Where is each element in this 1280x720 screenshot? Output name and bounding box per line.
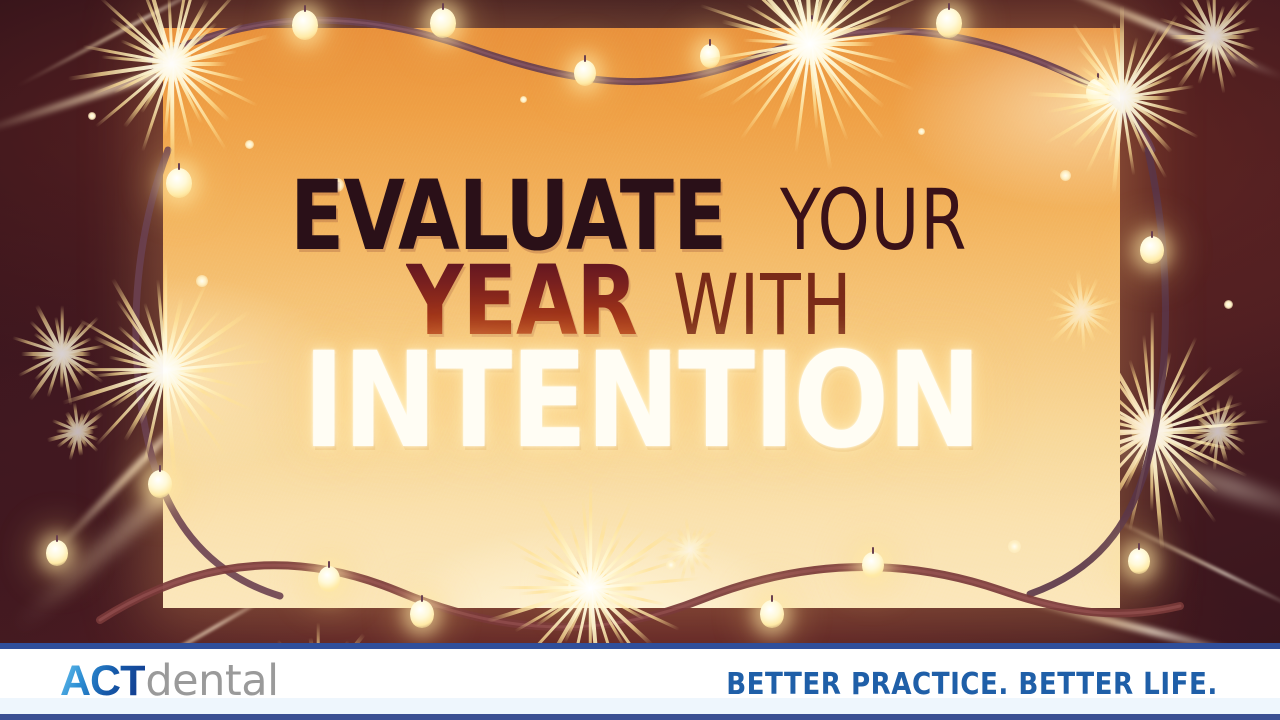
logo-mark-act: ACT — [60, 660, 145, 703]
bulb-top-1 — [292, 10, 318, 40]
content-panel — [163, 28, 1120, 608]
bulb-top-7 — [1086, 78, 1110, 106]
panel-glow-overlay — [163, 28, 1120, 608]
bulb-top-5 — [800, 20, 824, 48]
bulb-bottom-5 — [862, 552, 884, 578]
footer-bottom-rule — [0, 714, 1280, 720]
panel-grain-texture — [163, 28, 1120, 608]
footer-top-rule — [0, 643, 1280, 649]
bulb-left-1 — [166, 168, 192, 198]
footer-bar: ACT dental BETTER PRACTICE. BETTER LIFE. — [0, 643, 1280, 720]
bulb-bottom-3 — [568, 576, 588, 600]
bulb-right-1 — [1140, 236, 1164, 264]
bulb-left-3 — [46, 540, 68, 566]
bulb-top-2 — [430, 8, 456, 38]
bulb-top-3 — [574, 60, 596, 86]
logo-word-dental: dental — [145, 660, 278, 703]
bulb-bottom-1 — [318, 566, 340, 592]
bulb-left-2 — [148, 470, 172, 498]
bulb-bottom-2 — [410, 600, 434, 628]
bulb-right-2 — [1128, 548, 1150, 574]
bulb-bottom-4 — [760, 600, 784, 628]
act-dental-logo[interactable]: ACT dental — [60, 660, 279, 703]
bulb-top-4 — [700, 44, 720, 68]
footer-tagline: BETTER PRACTICE. BETTER LIFE. — [726, 667, 1218, 702]
promo-graphic-canvas: EVALUATE YOUR YEAR WITH INTENTION ACT de… — [0, 0, 1280, 720]
bulb-top-6 — [936, 8, 962, 38]
